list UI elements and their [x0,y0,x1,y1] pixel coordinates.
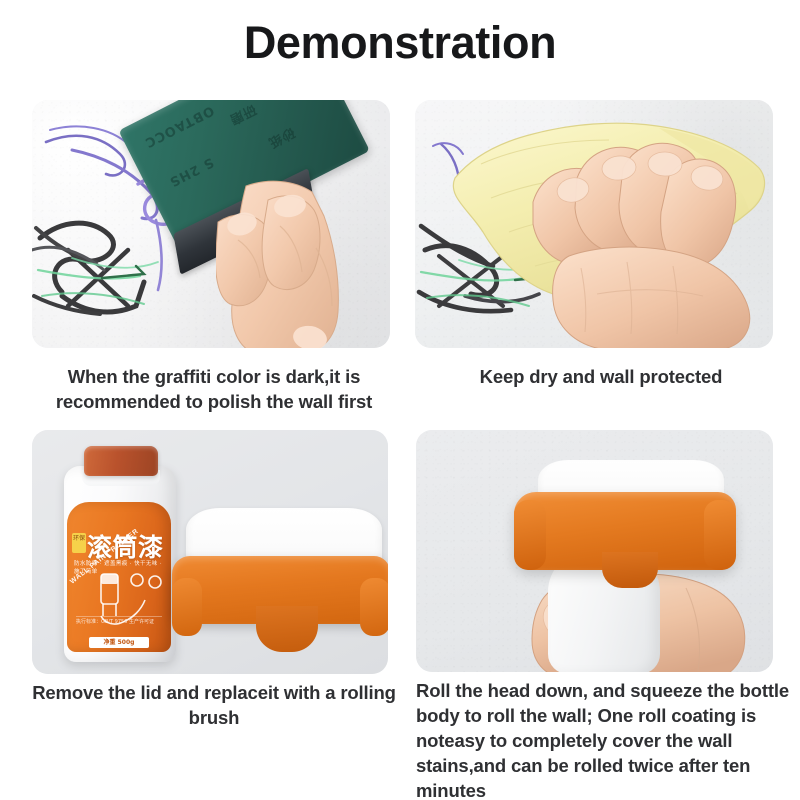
sponge-print-1: S 2HS [166,154,216,189]
scene-roll-wall [416,430,773,672]
panel-polish-wall: OBTAOCC S 2HS 研磨 砂纸 [32,100,390,348]
paint-bottle: 环保 滚筒漆 防水防霉 · 遮盖黑痕 · 快干无味 · 施工简单 [56,440,184,665]
roller-brush-head [172,508,388,660]
caption-polish-wall: When the graffiti color is dark,it is re… [18,364,410,414]
sponge-print-3: 砂纸 [265,124,299,154]
label-footer: 执行标准：GB/T 9756 生产许可证 [76,616,162,632]
scene-replace-lid: 环保 滚筒漆 防水防霉 · 遮盖黑痕 · 快干无味 · 施工简单 [32,430,388,674]
roller-brush-on-wall [514,460,736,616]
caption-wipe-dry: Keep dry and wall protected [412,364,790,389]
roller-stem [256,606,318,652]
bottle-label: 环保 滚筒漆 防水防霉 · 遮盖黑痕 · 快干无味 · 施工简单 [67,502,171,652]
panel-wipe-dry [415,100,773,348]
caption-roll-wall: Roll the head down, and squeeze the bott… [416,678,790,800]
demonstration-page: Demonstration [0,0,800,800]
scene-wipe-dry [415,100,773,348]
roller-arm-left [172,578,202,636]
caption-replace-lid: Remove the lid and replaceit with a roll… [18,680,410,730]
panel-replace-lid: 环保 滚筒漆 防水防霉 · 遮盖黑痕 · 快干无味 · 施工简单 [32,430,388,674]
sponge-print-2: 研磨 [227,101,261,131]
hand-wiping-cloth [511,128,761,348]
label-badge: 环保 [72,533,86,553]
roller-arm-right [704,500,736,570]
scene-polish-wall: OBTAOCC S 2HS 研磨 砂纸 [32,100,390,348]
page-title: Demonstration [0,14,800,72]
roller-arm-right [360,578,388,636]
roller-arm-left [514,500,546,570]
panel-roll-wall [416,430,773,672]
roller-stem [602,552,658,588]
bottle-cap [84,446,158,476]
label-net-weight: 净重 500g [89,637,149,648]
hand-holding-sanding-block [216,178,390,348]
